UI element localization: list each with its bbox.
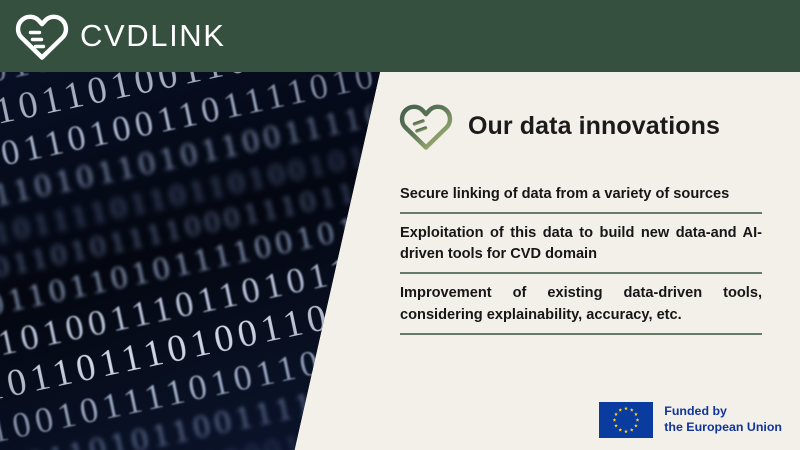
innovations-list: Secure linking of data from a variety of… [400,184,762,344]
binary-digits-field: 1011010110011101101101011001110110011010… [0,72,380,450]
innovation-item: Improvement of existing data-driven tool… [400,283,762,332]
heart-logo-icon [14,10,70,62]
content-panel: Our data innovations Secure linking of d… [380,72,800,450]
item-divider [400,272,762,274]
innovation-item: Secure linking of data from a variety of… [400,184,762,212]
item-divider [400,212,762,214]
innovation-item-text: Improvement of existing data-driven tool… [400,283,762,325]
innovation-item: Exploitation of this data to build new d… [400,223,762,272]
innovation-item-text: Exploitation of this data to build new d… [400,223,762,265]
page-title: Our data innovations [468,114,720,139]
eu-funding-badge: Funded by the European Union [599,402,782,438]
heart-logo-icon [398,100,454,152]
item-divider [400,333,762,335]
eu-funding-text: Funded by the European Union [664,404,782,436]
eu-flag-icon [599,402,653,438]
binary-code-photo: 1011010110011101101101011001110110011010… [0,72,380,450]
eu-funding-line2: the European Union [664,420,782,436]
slide: CVDLINK 10110101100111011011010110011101… [0,0,800,450]
brand-name: CVDLINK [80,20,226,53]
panel-heading: Our data innovations [398,100,720,152]
header-bar: CVDLINK [0,0,800,72]
eu-funding-line1: Funded by [664,404,782,420]
innovation-item-text: Secure linking of data from a variety of… [400,184,762,205]
